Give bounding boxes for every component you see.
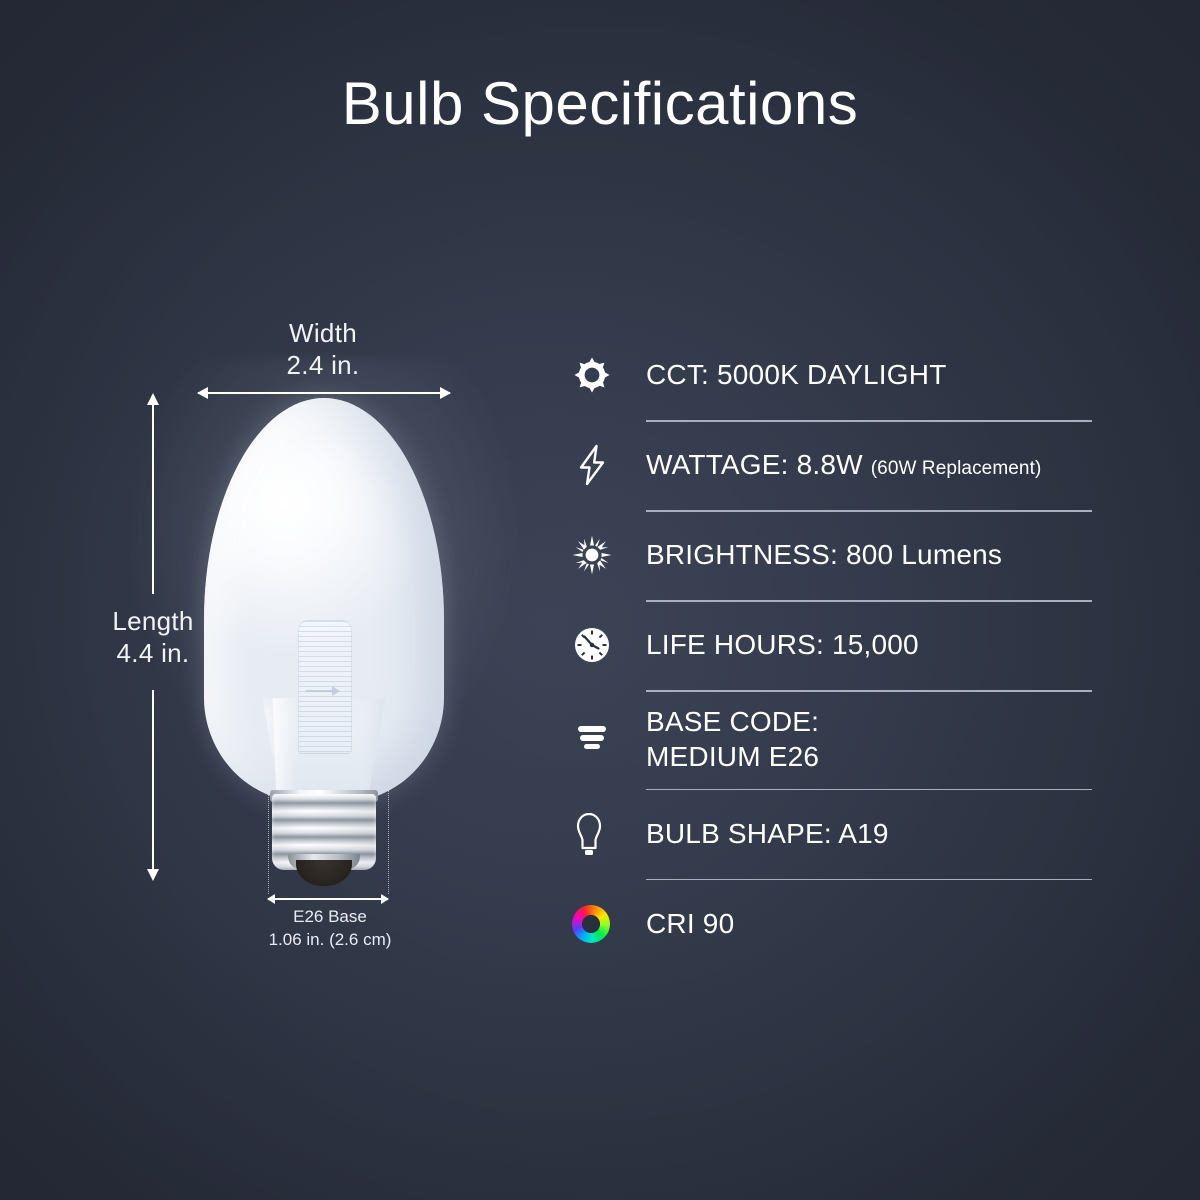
spec-text-bulb-shape: BULB SHAPE: A19 (646, 816, 889, 851)
base-guide-line-left (268, 790, 269, 894)
spec-value-base-code: MEDIUM E26 (646, 739, 819, 774)
sunburst-icon (560, 535, 646, 575)
length-value-text: 4.4 in. (78, 638, 228, 670)
color-wheel-icon (560, 905, 646, 943)
spec-text-wattage: WATTAGE: 8.8W (60W Replacement) (646, 447, 1041, 482)
base-guide-line-right (388, 790, 389, 894)
specs-list: CCT: 5000K DAYLIGHT WATTAGE: 8.8W (60W R… (560, 330, 1120, 969)
spec-label-brightness: BRIGHTNESS: 800 Lumens (646, 539, 1002, 570)
spec-label-cct: CCT: 5000K DAYLIGHT (646, 359, 947, 390)
spec-row-wattage: WATTAGE: 8.8W (60W Replacement) (560, 420, 1120, 510)
screw-base-icon (560, 722, 646, 756)
spec-text-cri: CRI 90 (646, 906, 734, 941)
sun-gear-icon (560, 355, 646, 395)
lightning-bolt-icon (560, 443, 646, 487)
width-label-text: Width (289, 318, 357, 348)
spec-row-base-code: BASE CODE: MEDIUM E26 (560, 690, 1120, 789)
length-dimension-label: Length 4.4 in. (78, 606, 228, 669)
bulb-internal-arrow-icon (306, 686, 340, 696)
width-dimension-label: Width 2.4 in. (208, 318, 438, 381)
base-label-text: E26 Base (238, 906, 422, 929)
bulb-outline-icon (560, 811, 646, 857)
spec-row-bulb-shape: BULB SHAPE: A19 (560, 789, 1120, 879)
spec-row-cct: CCT: 5000K DAYLIGHT (560, 330, 1120, 420)
bulb-illustration (196, 398, 452, 898)
spec-row-cri: CRI 90 (560, 879, 1120, 969)
width-value-text: 2.4 in. (208, 350, 438, 382)
length-arrow-lower-icon (152, 690, 154, 870)
spec-text-cct: CCT: 5000K DAYLIGHT (646, 357, 947, 392)
bulb-contact-tip (296, 860, 352, 886)
spec-label-wattage: WATTAGE: 8.8W (646, 449, 863, 480)
clock-gauge-icon (560, 625, 646, 665)
spec-text-life-hours: LIFE HOURS: 15,000 (646, 627, 919, 662)
length-arrow-upper-icon (152, 404, 154, 594)
bulb-diagram-panel: Width 2.4 in. Length 4.4 in. E26 Base 1.… (0, 0, 560, 1200)
spec-row-life-hours: LIFE HOURS: 15,000 (560, 600, 1120, 690)
spec-row-brightness: BRIGHTNESS: 800 Lumens (560, 510, 1120, 600)
bulb-spec-infographic: Bulb Specifications Width 2.4 in. Length… (0, 0, 1200, 1200)
page-title: Bulb Specifications (0, 74, 1200, 134)
length-label-text: Length (112, 606, 193, 636)
spec-label-base-code: BASE CODE: (646, 706, 819, 737)
base-width-arrow-icon (268, 898, 388, 900)
spec-label-cri: CRI 90 (646, 908, 734, 939)
spec-text-brightness: BRIGHTNESS: 800 Lumens (646, 537, 1002, 572)
width-arrow-icon (198, 392, 450, 394)
spec-label-bulb-shape: BULB SHAPE: A19 (646, 818, 889, 849)
spec-text-base-code: BASE CODE: MEDIUM E26 (646, 704, 819, 775)
base-dimension-label: E26 Base 1.06 in. (2.6 cm) (238, 906, 422, 952)
spec-label-life-hours: LIFE HOURS: 15,000 (646, 629, 919, 660)
base-value-text: 1.06 in. (2.6 cm) (238, 929, 422, 952)
spec-sub-wattage: (60W Replacement) (871, 458, 1042, 479)
